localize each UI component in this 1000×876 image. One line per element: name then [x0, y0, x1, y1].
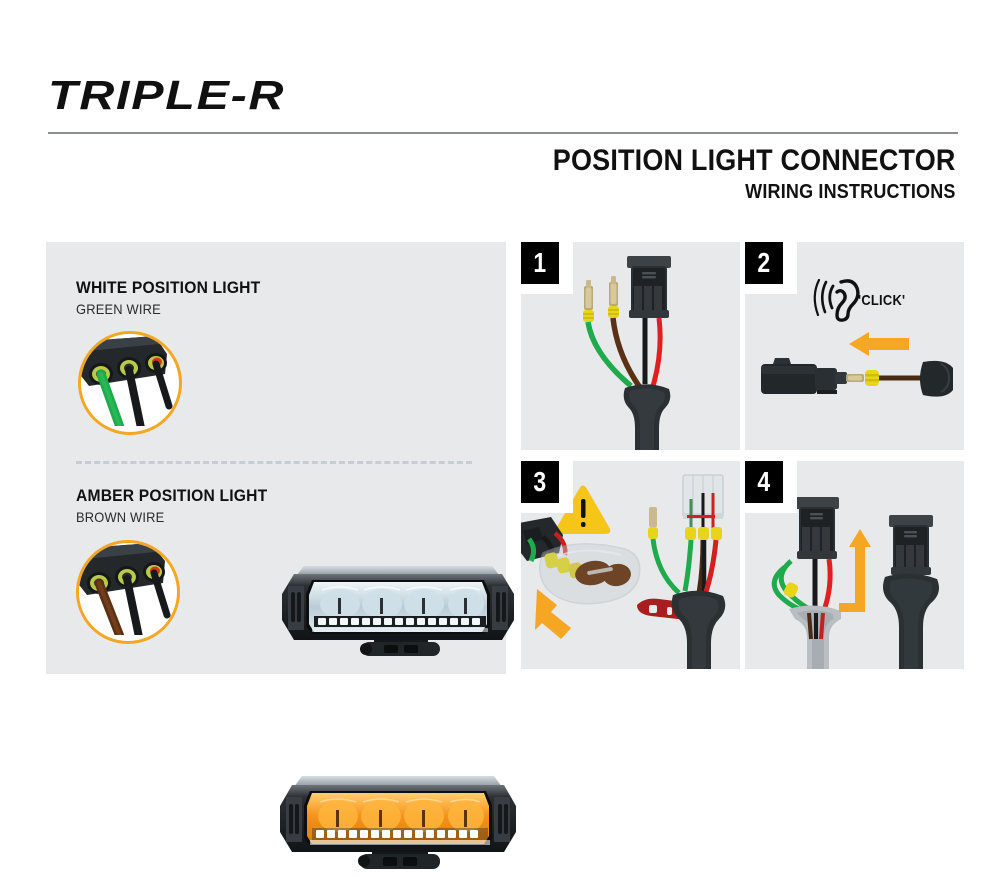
- step-1-identify-wires: 1: [521, 242, 740, 450]
- instruction-sheet: TRIPLE-R POSITION LIGHT CONNECTOR WIRING…: [0, 0, 1000, 750]
- amber-position-light-title: AMBER POSITION LIGHT: [76, 486, 267, 506]
- connector-pins-green-wire-icon: [78, 331, 182, 435]
- step-1-badge: 1: [521, 242, 559, 284]
- step-3-secure-lock: 3: [521, 461, 740, 669]
- header-divider: [48, 132, 958, 134]
- page-subtitle: WIRING INSTRUCTIONS: [553, 180, 956, 204]
- click-label: 'CLICK': [858, 292, 905, 309]
- step-4-badge: 4: [745, 461, 783, 503]
- step-2-badge: 2: [745, 242, 783, 284]
- amber-position-light-subtitle: BROWN WIRE: [76, 509, 164, 525]
- white-position-light-title: WHITE POSITION LIGHT: [76, 278, 260, 298]
- arrow-up-icon: [839, 529, 871, 612]
- page-title: POSITION LIGHT CONNECTOR: [553, 145, 956, 177]
- section-divider: [76, 461, 472, 464]
- title-block: POSITION LIGHT CONNECTOR WIRING INSTRUCT…: [508, 145, 956, 204]
- ear-listening-icon: [815, 280, 858, 320]
- step-3-badge: 3: [521, 461, 559, 503]
- step-4-assemble-boot: 4: [745, 461, 964, 669]
- white-position-light-subtitle: GREEN WIRE: [76, 301, 161, 317]
- arrow-left-icon: [849, 332, 909, 356]
- led-light-bar-white-icon: [278, 554, 518, 662]
- connector-pins-brown-wire-icon: [76, 540, 180, 644]
- led-light-bar-amber-icon: [274, 764, 522, 876]
- step-2-insert-until-click: 'CLICK' 2: [745, 242, 964, 450]
- brand-logo: TRIPLE-R: [48, 72, 285, 119]
